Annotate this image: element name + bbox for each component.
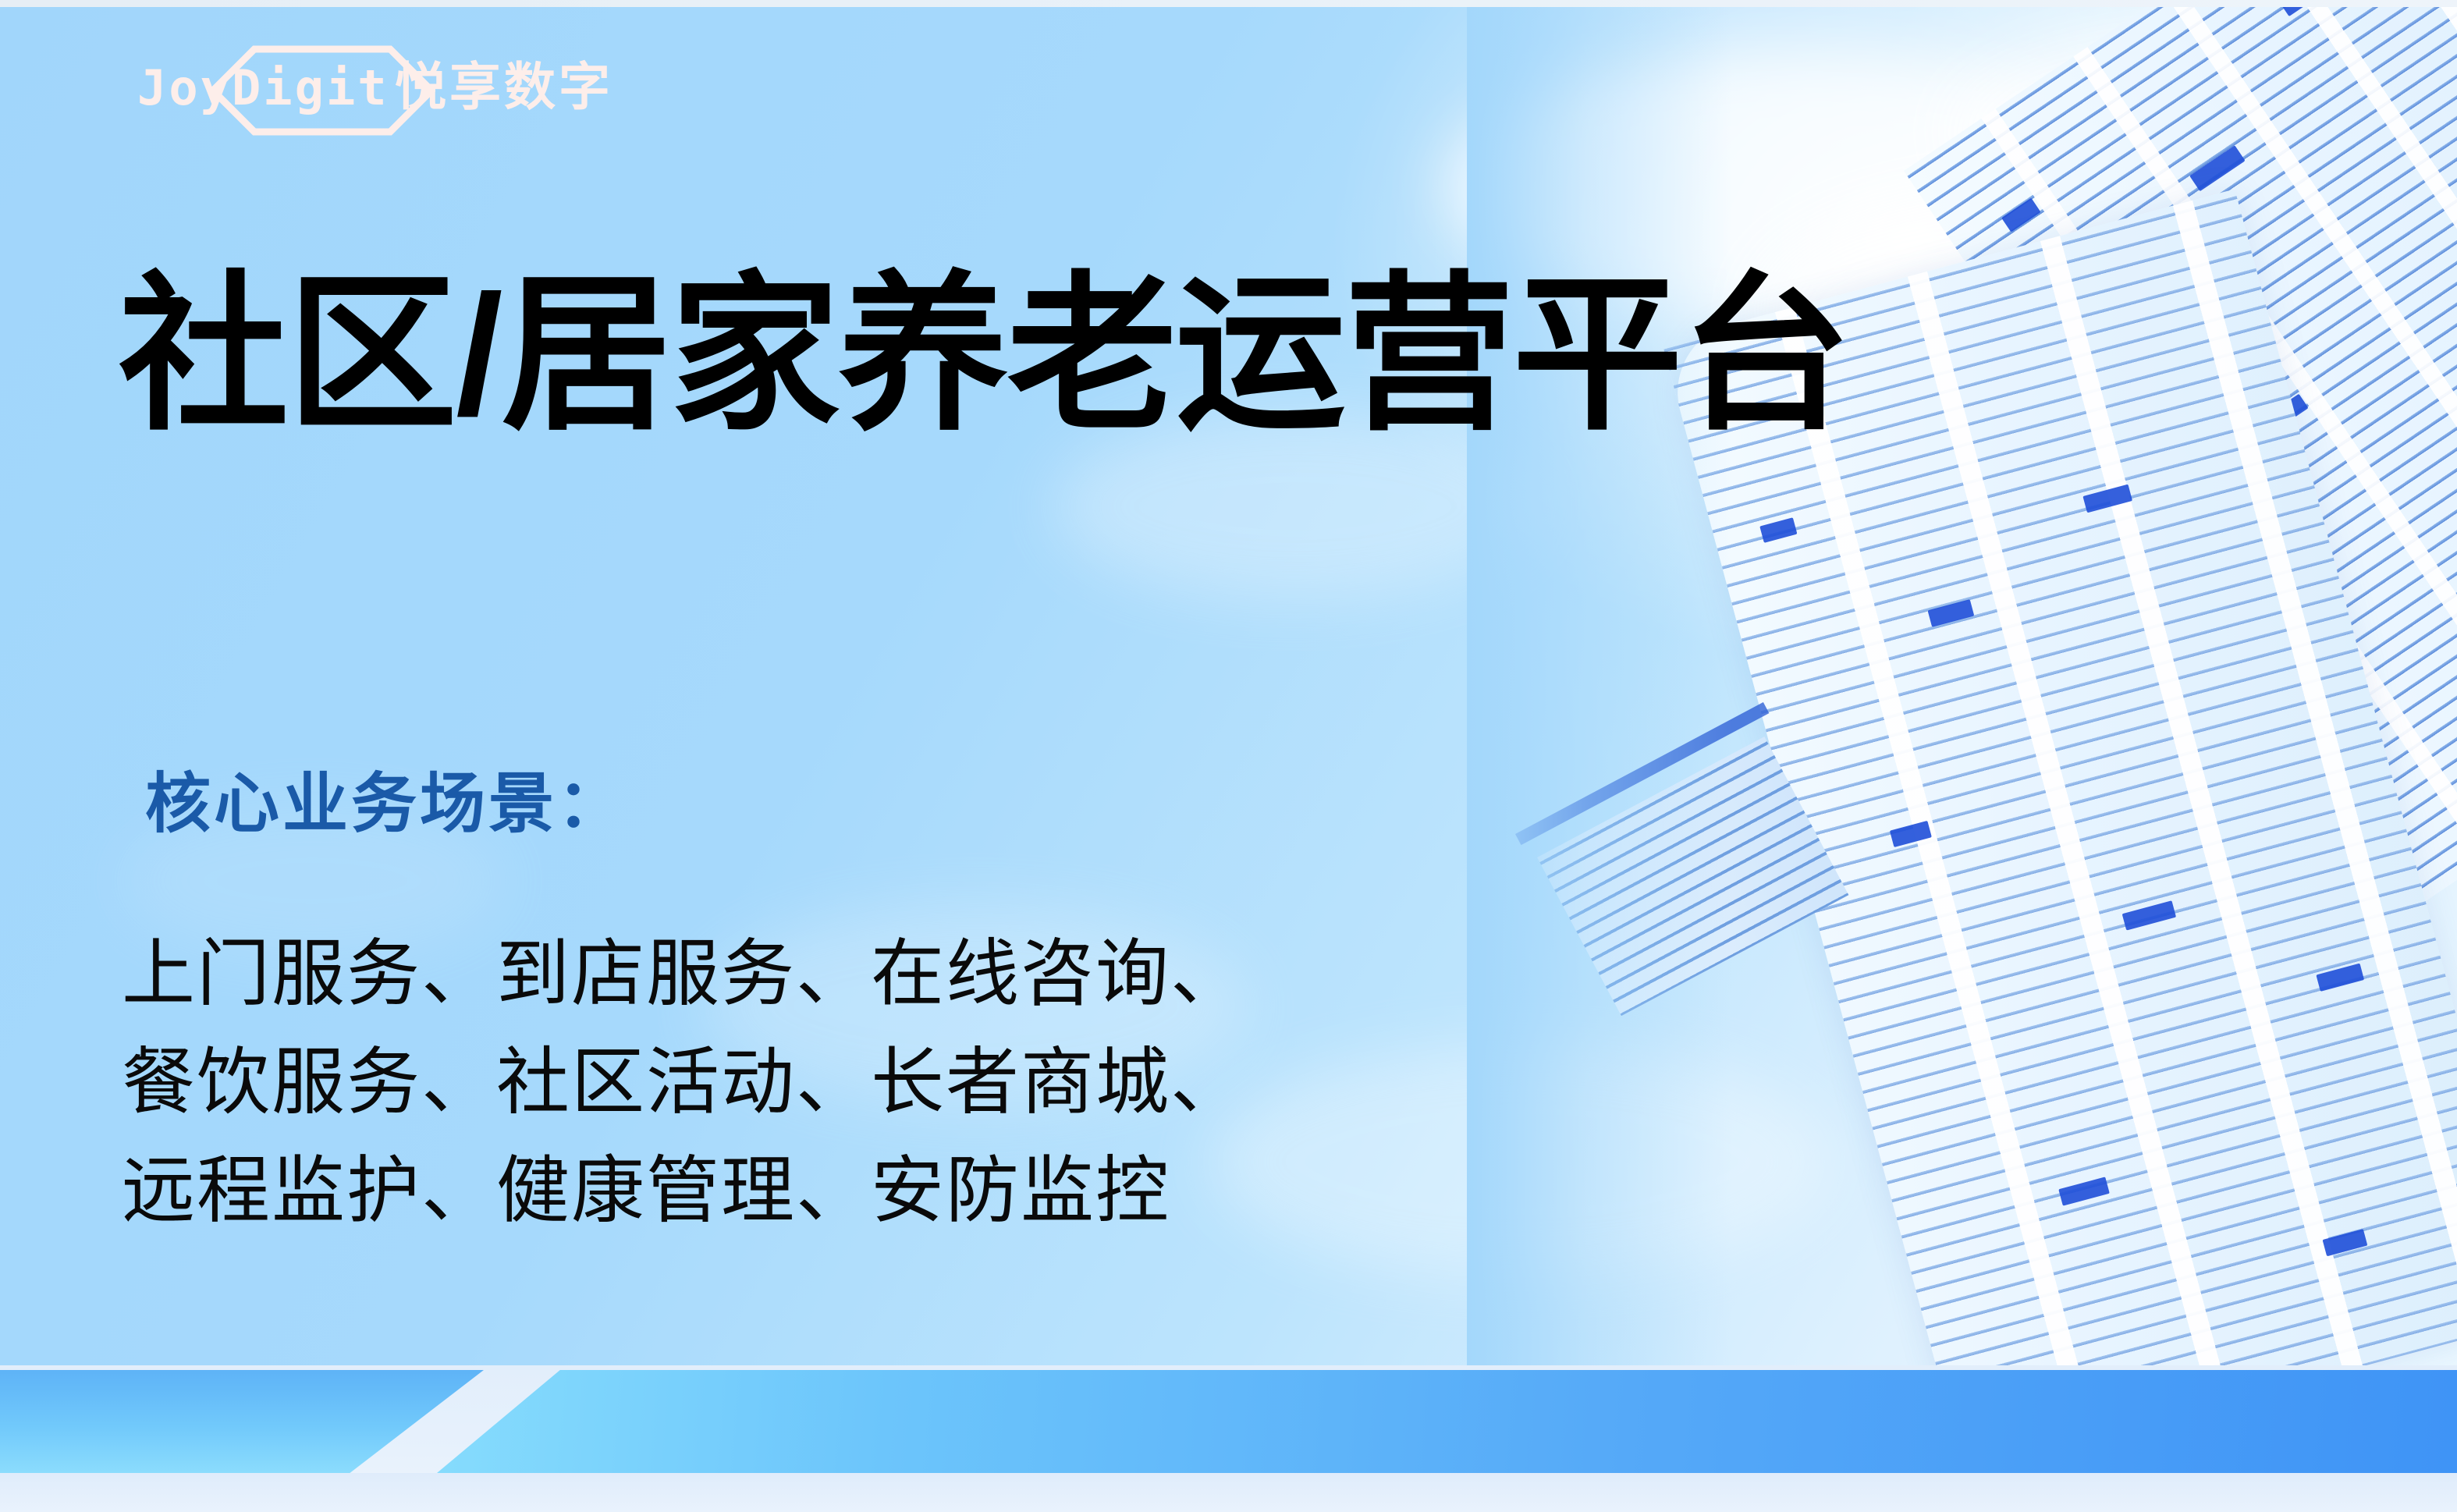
services-line: 餐饮服务、社区活动、长者商城、 — [122, 1028, 1245, 1136]
services-line: 上门服务、到店服务、在线咨询、 — [122, 919, 1245, 1028]
slide-canvas: JoyDigit 悦享数字 社区/居家养老运营平台 核心业务场景： 上门服务、到… — [0, 0, 2457, 1512]
band-right-parallelogram — [437, 1370, 2457, 1473]
page-title: 社区/居家养老运营平台 — [119, 257, 1850, 455]
logo-wordmark-cn: 悦享数字 — [395, 61, 613, 112]
services-line: 远程监护、健康管理、安防监控 — [122, 1136, 1245, 1244]
bottom-decorative-band — [0, 1365, 2457, 1512]
section-heading: 核心业务场景： — [145, 765, 626, 843]
brand-logo[interactable]: JoyDigit 悦享数字 — [137, 45, 652, 136]
logo-wordmark: JoyDigit — [137, 64, 389, 112]
photo-left-fade — [1467, 7, 1732, 1371]
band-footer-strip — [0, 1473, 2457, 1512]
services-list: 上门服务、到店服务、在线咨询、 餐饮服务、社区活动、长者商城、 远程监护、健康管… — [122, 919, 1245, 1244]
skyscraper-photo — [1467, 7, 2457, 1371]
top-edge-strip — [0, 0, 2457, 7]
